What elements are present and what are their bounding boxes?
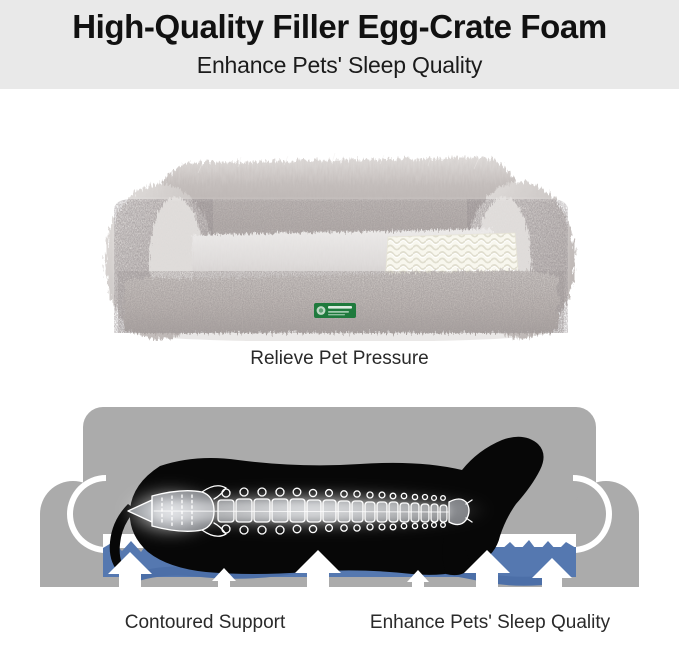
support-diagram-block bbox=[0, 392, 679, 602]
caption-contoured-support: Contoured Support bbox=[80, 612, 330, 634]
sofa-right-arm bbox=[573, 475, 639, 587]
page-subtitle: Enhance Pets' Sleep Quality bbox=[0, 52, 679, 79]
infographic-page: High-Quality Filler Egg-Crate Foam Enhan… bbox=[0, 0, 679, 646]
brand-label-tag bbox=[314, 303, 356, 318]
caption-sleep-quality: Enhance Pets' Sleep Quality bbox=[355, 612, 625, 634]
sofa-left-arm bbox=[40, 475, 106, 587]
header-band: High-Quality Filler Egg-Crate Foam Enhan… bbox=[0, 0, 679, 89]
product-photo-block bbox=[0, 89, 679, 351]
page-title: High-Quality Filler Egg-Crate Foam bbox=[0, 8, 679, 46]
photo-caption: Relieve Pet Pressure bbox=[0, 348, 679, 370]
diagram-caption-row: Contoured Support Enhance Pets' Sleep Qu… bbox=[0, 612, 679, 646]
pet-bed-photo bbox=[88, 95, 592, 341]
dog-spine-support-diagram bbox=[0, 392, 679, 602]
spine-glow-core bbox=[152, 502, 452, 520]
